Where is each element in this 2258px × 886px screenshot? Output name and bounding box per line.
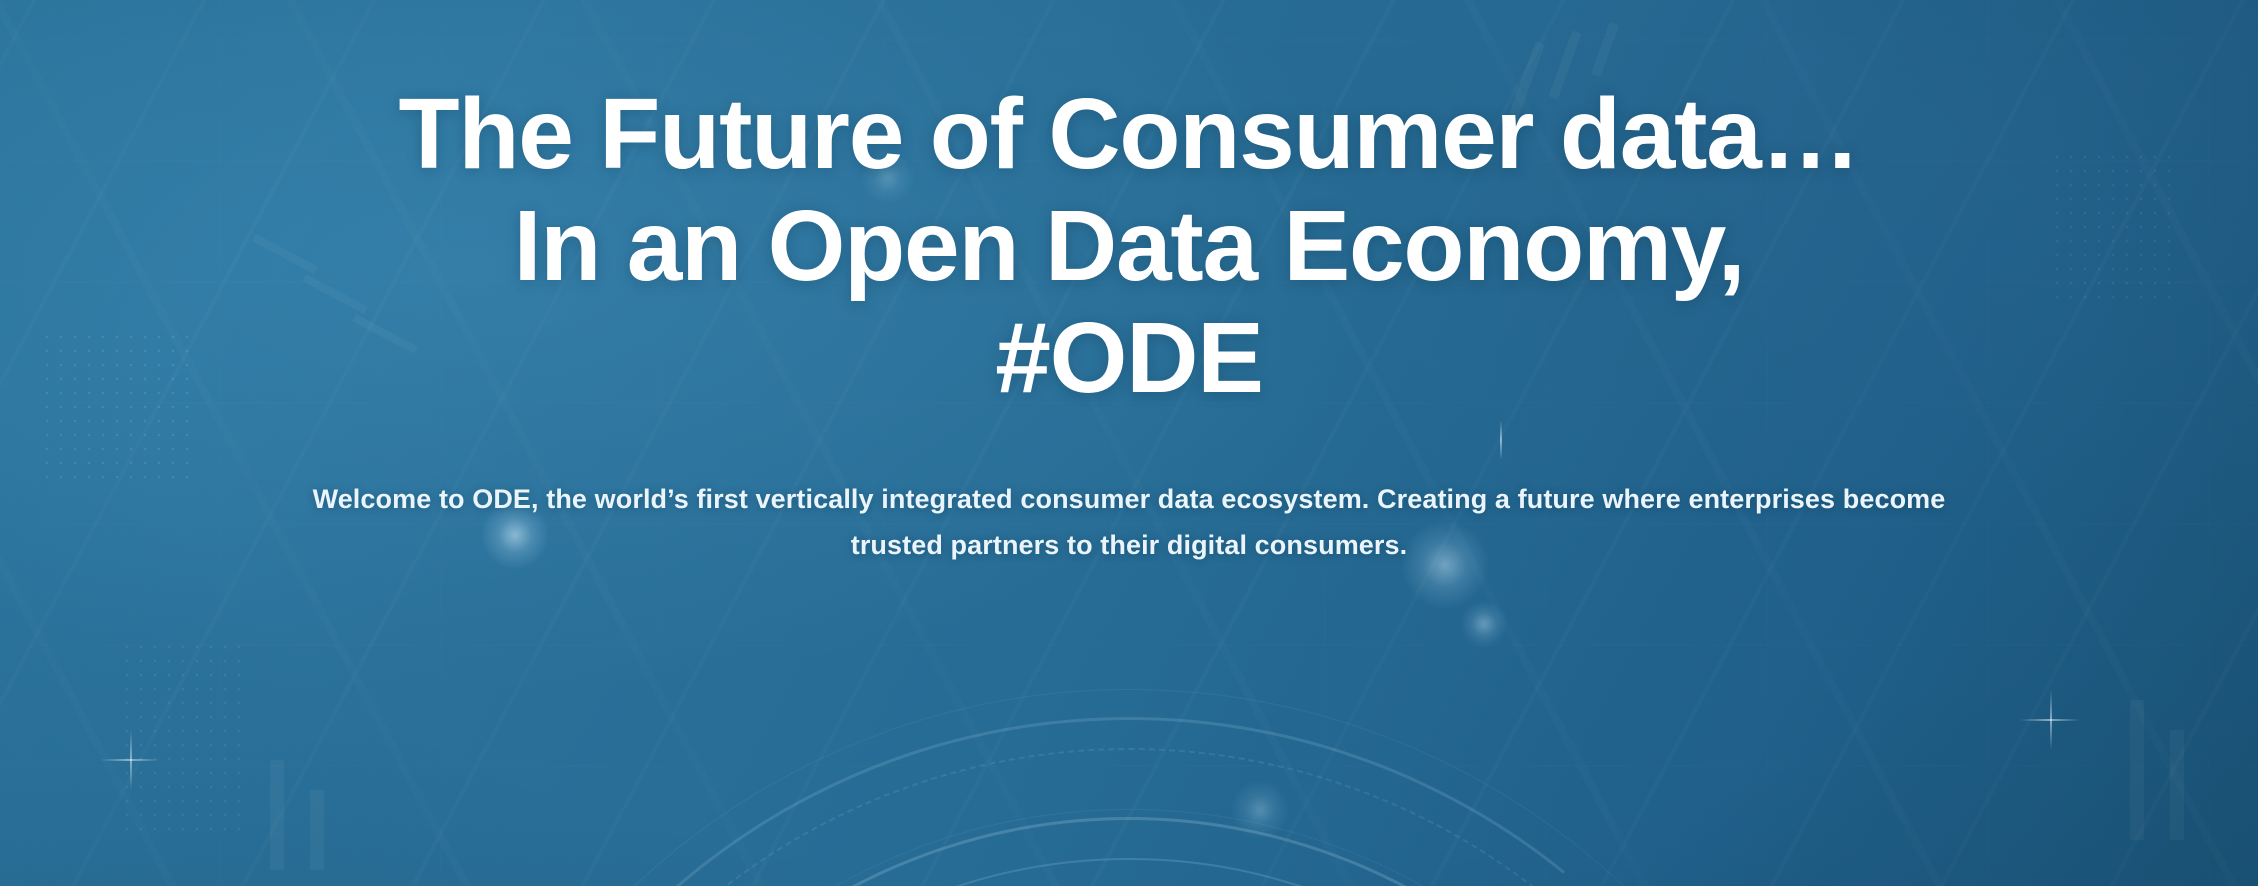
page-title: The Future of Consumer data… In an Open … [39,78,2219,414]
title-line-1: The Future of Consumer data… [39,78,2219,190]
title-line-2: In an Open Data Economy, [39,190,2219,302]
hero-banner: The Future of Consumer data… In an Open … [0,0,2258,886]
title-line-3: #ODE [39,302,2219,414]
hero-content: The Future of Consumer data… In an Open … [0,0,2258,886]
hero-subtitle: Welcome to ODE, the world’s first vertic… [279,476,1979,569]
